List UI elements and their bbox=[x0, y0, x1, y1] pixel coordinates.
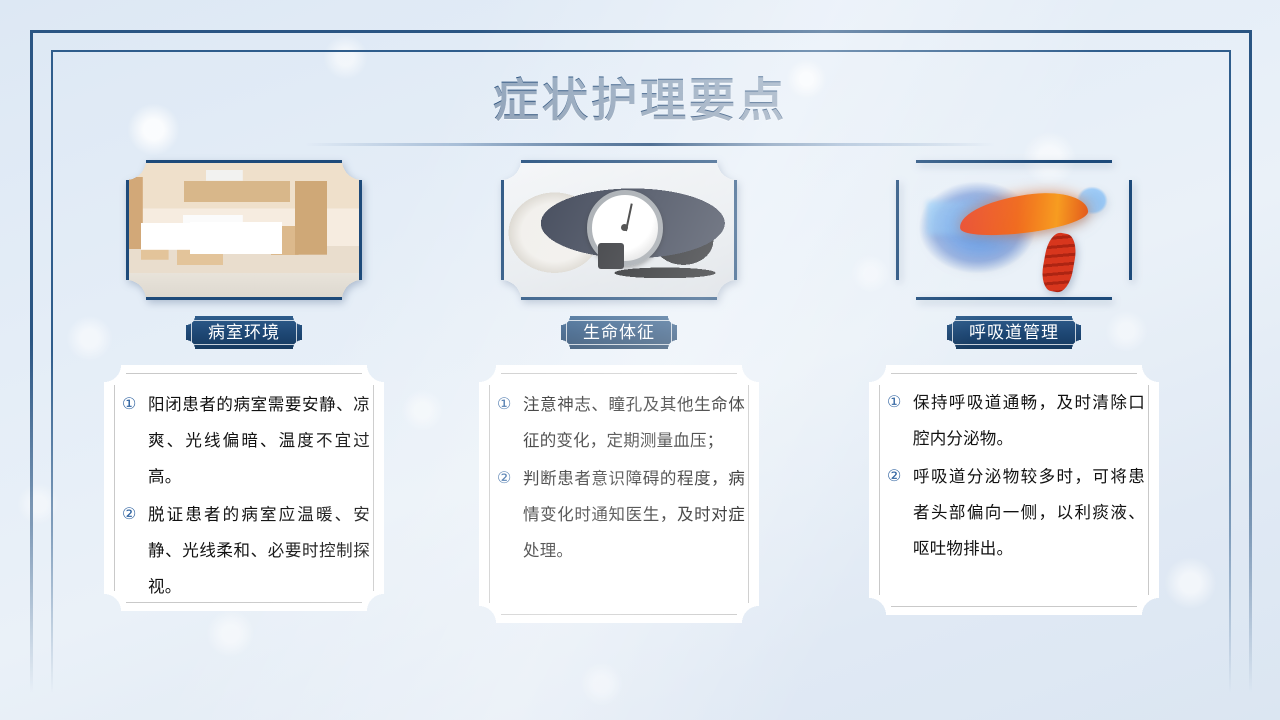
text-card-2: ① 注意神志、瞳孔及其他生命体征的变化，定期测量血压； ② 判断患者意识障碍的程… bbox=[479, 365, 759, 623]
list-item-number: ② bbox=[887, 459, 913, 495]
card-body-2: ① 注意神志、瞳孔及其他生命体征的变化，定期测量血压； ② 判断患者意识障碍的程… bbox=[479, 387, 759, 571]
list-item-text: 阳闭患者的病室需要安静、凉爽、光线偏暗、温度不宜过高。 bbox=[148, 387, 370, 495]
photo-frame-1 bbox=[126, 160, 362, 300]
list-item-number: ① bbox=[122, 387, 148, 423]
photo-airway-anatomy bbox=[896, 160, 1132, 300]
page-title: 症状护理要点 bbox=[0, 64, 1280, 130]
photo-frame-3 bbox=[896, 160, 1132, 300]
badge-label: 生命体征 bbox=[583, 323, 655, 342]
list-item-number: ① bbox=[497, 387, 523, 423]
badge-label: 呼吸道管理 bbox=[969, 323, 1059, 342]
card-body-1: ① 阳闭患者的病室需要安静、凉爽、光线偏暗、温度不宜过高。 ② 脱证患者的病室应… bbox=[104, 387, 384, 607]
content-column-2: 生命体征 ① 注意神志、瞳孔及其他生命体征的变化，定期测量血压； ② 判断患者意… bbox=[479, 160, 759, 623]
list-item-number: ② bbox=[497, 461, 523, 497]
list-item: ① 保持呼吸道通畅，及时清除口腔内分泌物。 bbox=[887, 385, 1145, 457]
content-column-3: 呼吸道管理 ① 保持呼吸道通畅，及时清除口腔内分泌物。 ② 呼吸道分泌物较多时，… bbox=[869, 160, 1159, 615]
content-column-1: 病室环境 ① 阳闭患者的病室需要安静、凉爽、光线偏暗、温度不宜过高。 ② 脱证患… bbox=[104, 160, 384, 611]
badge-row-3: 呼吸道管理 bbox=[869, 316, 1159, 349]
list-item: ① 阳闭患者的病室需要安静、凉爽、光线偏暗、温度不宜过高。 bbox=[122, 387, 370, 495]
list-item: ① 注意神志、瞳孔及其他生命体征的变化，定期测量血压； bbox=[497, 387, 745, 459]
title-divider bbox=[305, 143, 995, 146]
photo-art bbox=[129, 163, 359, 297]
badge-ward-environment[interactable]: 病室环境 bbox=[186, 316, 302, 349]
list-item-text: 判断患者意识障碍的程度，病情变化时通知医生，及时对症处理。 bbox=[523, 461, 745, 569]
list-item-text: 呼吸道分泌物较多时，可将患者头部偏向一侧，以利痰液、呕吐物排出。 bbox=[913, 459, 1145, 567]
photo-blood-pressure-monitor bbox=[501, 160, 737, 300]
badge-airway-management[interactable]: 呼吸道管理 bbox=[947, 316, 1081, 349]
gauge-stem bbox=[598, 243, 624, 269]
list-item: ② 呼吸道分泌物较多时，可将患者头部偏向一侧，以利痰液、呕吐物排出。 bbox=[887, 459, 1145, 567]
list-item-text: 保持呼吸道通畅，及时清除口腔内分泌物。 bbox=[913, 385, 1145, 457]
badge-label: 病室环境 bbox=[208, 323, 280, 342]
list-item-text: 脱证患者的病室应温暖、安静、光线柔和、必要时控制探视。 bbox=[148, 497, 370, 605]
badge-row-2: 生命体征 bbox=[479, 316, 759, 349]
card-body-3: ① 保持呼吸道通畅，及时清除口腔内分泌物。 ② 呼吸道分泌物较多时，可将患者头部… bbox=[869, 385, 1159, 569]
badge-row-1: 病室环境 bbox=[104, 316, 384, 349]
text-card-1: ① 阳闭患者的病室需要安静、凉爽、光线偏暗、温度不宜过高。 ② 脱证患者的病室应… bbox=[104, 365, 384, 611]
list-item-number: ② bbox=[122, 497, 148, 533]
slide-canvas: 症状护理要点 病室环境 ① 阳闭患者的病室需要安静、凉爽、光线偏暗、温度不宜过高… bbox=[0, 0, 1280, 720]
photo-frame-2 bbox=[501, 160, 737, 300]
badge-vital-signs[interactable]: 生命体征 bbox=[561, 316, 677, 349]
list-item-number: ① bbox=[887, 385, 913, 421]
list-item: ② 脱证患者的病室应温暖、安静、光线柔和、必要时控制探视。 bbox=[122, 497, 370, 605]
list-item-text: 注意神志、瞳孔及其他生命体征的变化，定期测量血压； bbox=[523, 387, 745, 459]
list-item: ② 判断患者意识障碍的程度，病情变化时通知医生，及时对症处理。 bbox=[497, 461, 745, 569]
photo-hospital-room bbox=[126, 160, 362, 300]
text-card-3: ① 保持呼吸道通畅，及时清除口腔内分泌物。 ② 呼吸道分泌物较多时，可将患者头部… bbox=[869, 365, 1159, 615]
